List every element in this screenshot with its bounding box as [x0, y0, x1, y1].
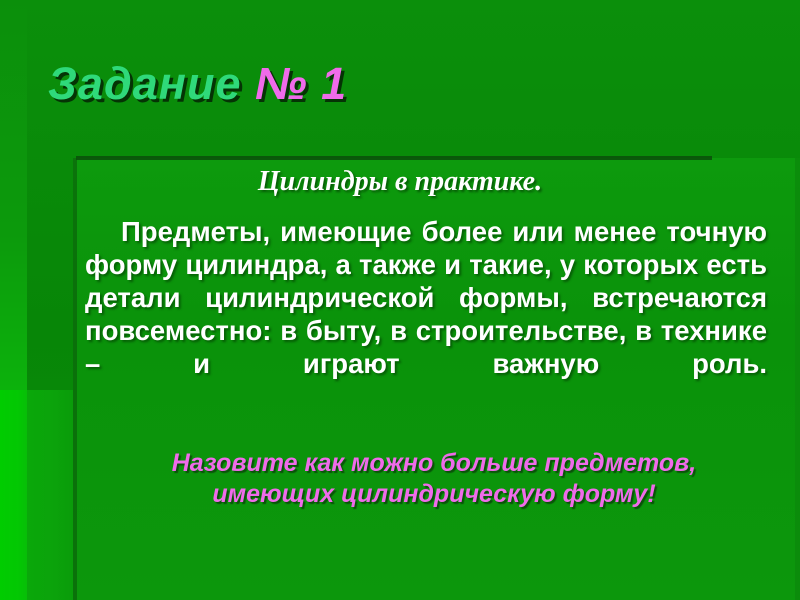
slide-call-to-action: Назовите как можно больше предметов, име… — [73, 448, 795, 510]
horizontal-divider-rule — [76, 156, 712, 160]
content-panel-right-border — [795, 158, 800, 600]
call-to-action-line-1: Назовите как можно больше предметов, — [73, 448, 795, 479]
call-to-action-line-2: имеющих цилиндрическую форму! — [73, 479, 795, 510]
left-accent-stripe — [0, 390, 27, 600]
presentation-slide: Задание № 1 Цилиндры в практике. Предмет… — [0, 0, 800, 600]
slide-subtitle: Цилиндры в практике. — [0, 166, 800, 198]
slide-title-text: Задание — [48, 58, 241, 109]
slide-title-number: № 1 — [255, 58, 347, 109]
slide-title: Задание № 1 — [48, 58, 347, 110]
slide-body-paragraph: Предметы, имеющие более или менее точную… — [85, 215, 767, 413]
left-secondary-stripe — [27, 390, 73, 600]
content-panel-left-border — [73, 158, 77, 600]
